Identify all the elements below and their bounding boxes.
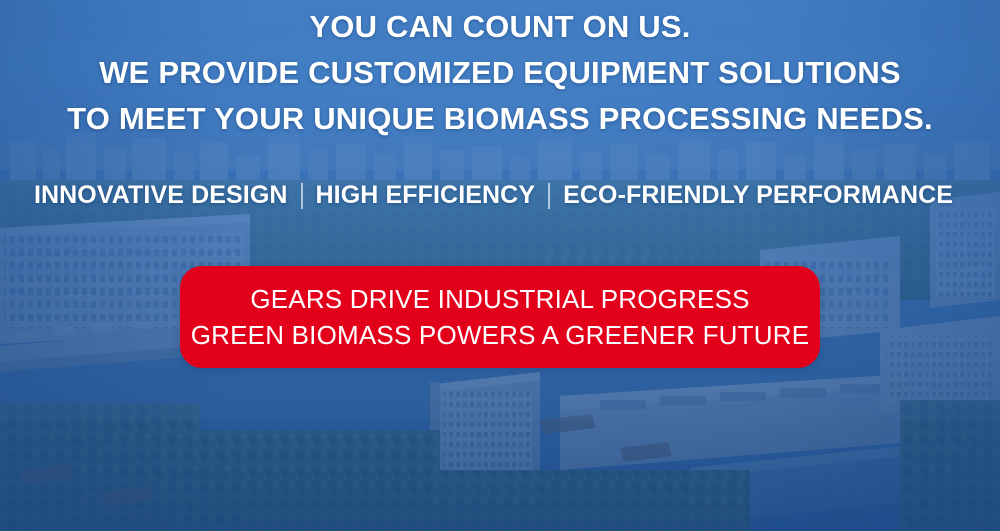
feature-item-high-efficiency: HIGH EFFICIENCY [303,181,549,210]
callout-line-2: GREEN BIOMASS POWERS A GREENER FUTURE [191,317,810,353]
hero-content: YOU CAN COUNT ON US. WE PROVIDE CUSTOMIZ… [0,0,1000,531]
headline-line-3: TO MEET YOUR UNIQUE BIOMASS PROCESSING N… [0,96,1000,142]
feature-list: INNOVATIVE DESIGN HIGH EFFICIENCY ECO-FR… [0,181,1000,210]
callout-banner: GEARS DRIVE INDUSTRIAL PROGRESS GREEN BI… [180,266,820,368]
feature-item-innovative-design: INNOVATIVE DESIGN [34,181,301,210]
feature-item-eco-friendly-performance: ECO-FRIENDLY PERFORMANCE [550,181,966,210]
callout-line-1: GEARS DRIVE INDUSTRIAL PROGRESS [250,281,749,317]
page-title: YOU CAN COUNT ON US. WE PROVIDE CUSTOMIZ… [0,4,1000,142]
headline-line-1: YOU CAN COUNT ON US. [0,4,1000,50]
hero-banner: YOU CAN COUNT ON US. WE PROVIDE CUSTOMIZ… [0,0,1000,531]
headline-line-2: WE PROVIDE CUSTOMIZED EQUIPMENT SOLUTION… [0,50,1000,96]
